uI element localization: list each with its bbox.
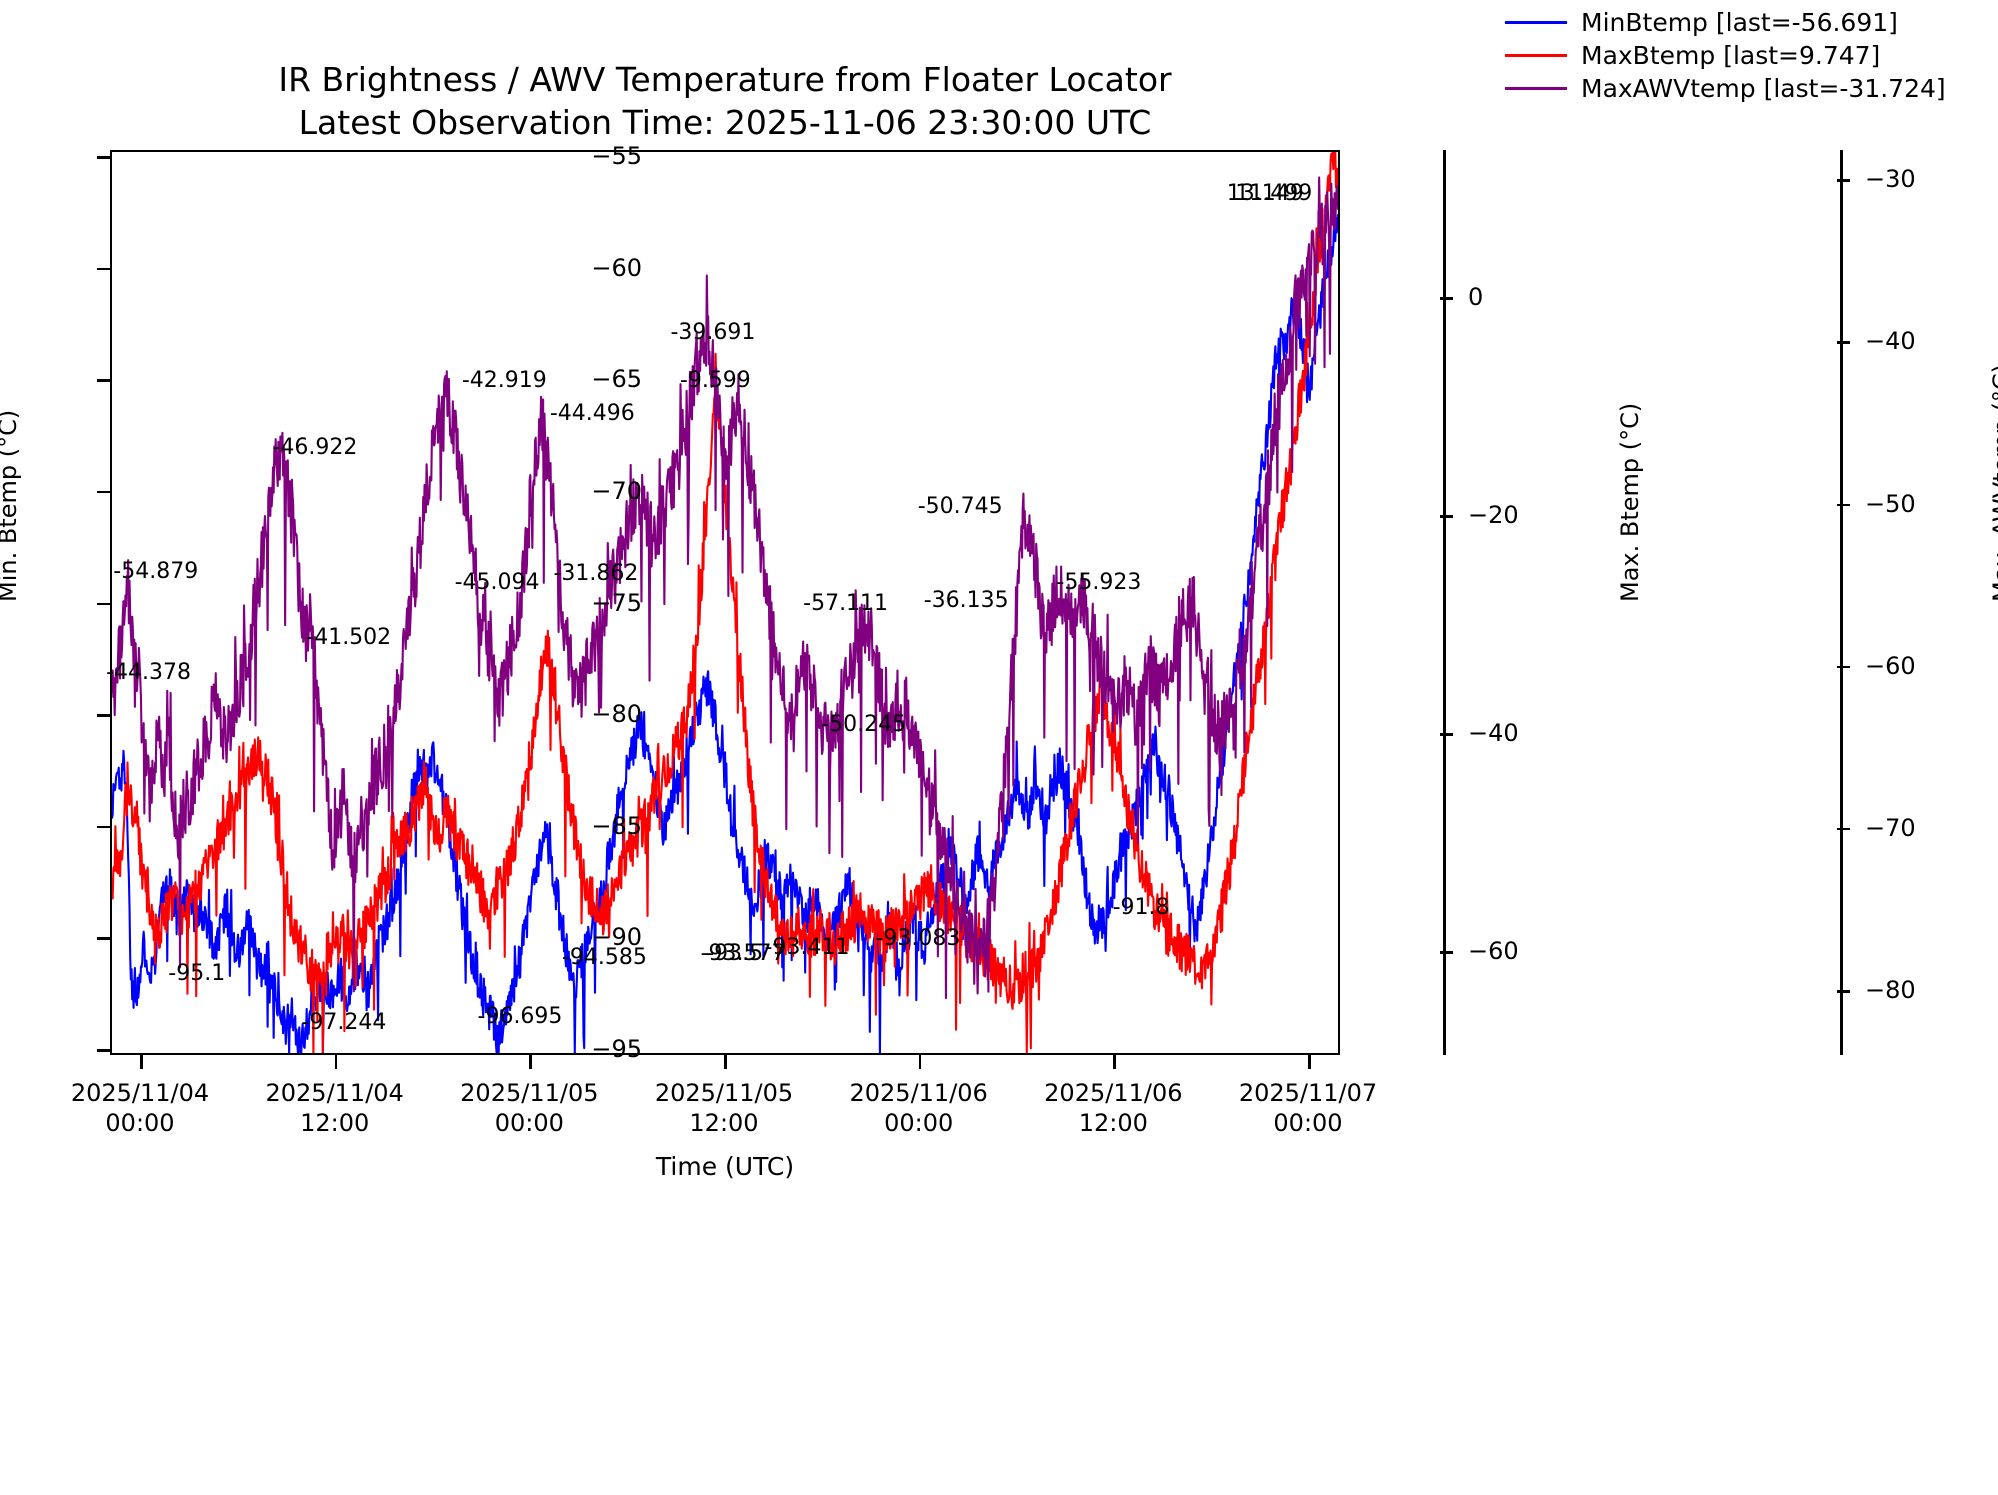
- legend-swatch-maxbtemp: [1505, 54, 1567, 57]
- annotation-label: -55.923: [1056, 572, 1141, 594]
- annotation-label: -44.496: [550, 403, 635, 425]
- y-tick-mark-right1: [1440, 515, 1453, 518]
- y-tick-label-left: −95: [522, 1037, 642, 1061]
- legend-swatch-maxawvtemp: [1505, 87, 1567, 90]
- annotation-label: 11.499: [1235, 183, 1312, 205]
- annotation-label: -46.922: [272, 437, 357, 459]
- annotation-label: -93.083: [875, 928, 960, 950]
- y-tick-mark-left: [97, 379, 110, 382]
- y-tick-mark-right2: [1837, 179, 1850, 182]
- legend-label-maxbtemp: MaxBtemp [last=9.747]: [1581, 42, 1880, 69]
- annotation-label: -93.5: [706, 943, 763, 965]
- chart-page: MinBtemp [last=-56.691] MaxBtemp [last=9…: [0, 0, 1998, 1495]
- annotation-label: -41.502: [306, 627, 391, 649]
- y-tick-label-left: −80: [522, 702, 642, 726]
- annotation-label: -93.411: [765, 937, 850, 959]
- y-tick-label-right1: −60: [1468, 939, 1578, 963]
- y-tick-label-right1: 0: [1468, 285, 1578, 309]
- annotation-label: -31.862: [553, 563, 638, 585]
- y-tick-label-left: −55: [522, 144, 642, 168]
- chart-title-subtitle: Latest Observation Time: 2025-11-06 23:3…: [110, 101, 1340, 144]
- annotation-label: -50.745: [918, 496, 1003, 518]
- y-tick-mark-right2: [1837, 990, 1850, 993]
- annotation-label: -91.8: [1113, 897, 1170, 919]
- y-axis-right1-line: [1443, 150, 1446, 1055]
- x-tick-mark: [919, 1055, 922, 1069]
- annotation-label: -54.879: [113, 561, 198, 583]
- y-tick-mark-right1: [1440, 951, 1453, 954]
- y-tick-label-right2: −60: [1865, 654, 1975, 678]
- x-tick-label: 2025/11/0700:00: [1193, 1078, 1423, 1138]
- y-tick-label-left: −60: [522, 256, 642, 280]
- annotation-label: -95.1: [168, 963, 225, 985]
- x-tick-mark: [724, 1055, 727, 1069]
- legend-label-minbtemp: MinBtemp [last=-56.691]: [1581, 9, 1898, 36]
- y-tick-mark-left: [97, 491, 110, 494]
- y-tick-mark-right1: [1440, 733, 1453, 736]
- y-tick-label-left: −70: [522, 479, 642, 503]
- x-axis-label: Time (UTC): [110, 1152, 1340, 1181]
- chart-legend: MinBtemp [last=-56.691] MaxBtemp [last=9…: [1505, 6, 1985, 105]
- x-tick-mark: [529, 1055, 532, 1069]
- y-tick-label-right2: −80: [1865, 978, 1975, 1002]
- legend-item-maxawvtemp: MaxAWVtemp [last=-31.724]: [1505, 72, 1985, 105]
- y-tick-mark-right2: [1837, 341, 1850, 344]
- y-tick-mark-left: [97, 268, 110, 271]
- y-tick-label-right2: −50: [1865, 492, 1975, 516]
- annotation-label: -9.599: [680, 370, 751, 392]
- y-tick-label-right1: −40: [1468, 721, 1578, 745]
- annotation-label: -96.695: [478, 1006, 563, 1028]
- annotation-label: -97.244: [301, 1012, 386, 1034]
- legend-label-maxawvtemp: MaxAWVtemp [last=-31.724]: [1581, 75, 1946, 102]
- y-tick-label-right2: −30: [1865, 167, 1975, 191]
- y-tick-label-right2: −70: [1865, 816, 1975, 840]
- y-axis-right2-label: Max. AWVtemp (°C): [1988, 364, 1998, 602]
- y-tick-mark-left: [97, 937, 110, 940]
- annotation-label: -94.585: [562, 947, 647, 969]
- y-tick-mark-left: [97, 714, 110, 717]
- y-axis-right2-line: [1840, 150, 1843, 1055]
- legend-item-minbtemp: MinBtemp [last=-56.691]: [1505, 6, 1985, 39]
- annotation-label: -57.111: [803, 593, 888, 615]
- y-tick-mark-right2: [1837, 666, 1850, 669]
- chart-title: IR Brightness / AWV Temperature from Flo…: [110, 58, 1340, 144]
- x-tick-mark: [1308, 1055, 1311, 1069]
- series-line-maxawvtemp: [112, 177, 1338, 998]
- y-tick-mark-right1: [1440, 297, 1453, 300]
- y-tick-label-left: −75: [522, 591, 642, 615]
- chart-title-line1: IR Brightness / AWV Temperature from Flo…: [110, 58, 1340, 101]
- y-tick-mark-right2: [1837, 828, 1850, 831]
- y-tick-label-left: −85: [522, 814, 642, 838]
- annotation-label: -36.135: [924, 590, 1009, 612]
- y-tick-label-right2: −40: [1865, 329, 1975, 353]
- annotation-label: -42.919: [462, 370, 547, 392]
- legend-swatch-minbtemp: [1505, 21, 1567, 24]
- legend-item-maxbtemp: MaxBtemp [last=9.747]: [1505, 39, 1985, 72]
- y-tick-mark-left: [97, 156, 110, 159]
- annotation-label: -44.378: [106, 662, 191, 684]
- x-tick-mark: [1113, 1055, 1116, 1069]
- y-axis-right1-label: Max. Btemp (°C): [1616, 403, 1644, 602]
- y-tick-mark-left: [97, 826, 110, 829]
- annotation-label: -39.691: [670, 322, 755, 344]
- y-tick-mark-right2: [1837, 504, 1850, 507]
- x-tick-mark: [335, 1055, 338, 1069]
- annotation-label: -50.245: [821, 714, 906, 736]
- annotation-label: -45.094: [455, 572, 540, 594]
- x-tick-mark: [140, 1055, 143, 1069]
- y-tick-mark-left: [97, 1049, 110, 1052]
- y-tick-label-right1: −20: [1468, 503, 1578, 527]
- y-tick-mark-left: [97, 603, 110, 606]
- y-axis-left-label: Min. Btemp (°C): [0, 410, 22, 602]
